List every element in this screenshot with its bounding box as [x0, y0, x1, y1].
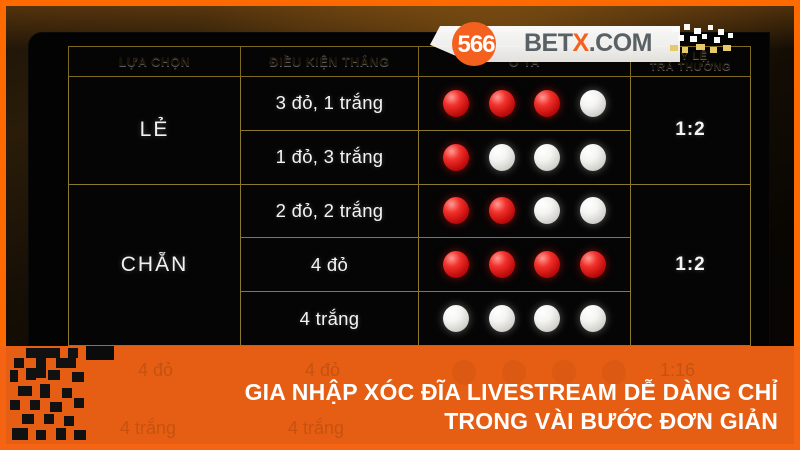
payout-cell-odd: 1:2 [631, 77, 751, 185]
ball-strip [419, 131, 630, 184]
condition-cell: 3 đỏ, 1 trắng [241, 77, 419, 131]
ball-red [443, 197, 469, 224]
ball-red [534, 251, 560, 278]
ball-strip [419, 77, 630, 130]
ball-strip [419, 238, 630, 291]
ball-red [489, 251, 515, 278]
condition-cell: 4 đỏ [241, 238, 419, 292]
result-cell [419, 184, 631, 238]
qr-code-icon [10, 348, 88, 444]
result-cell [419, 292, 631, 346]
header-choice: LỰA CHỌN [69, 47, 241, 77]
promo-banner: 4 đỏ 4 đỏ 4 trắng 4 trắng 1:16 GIA NHẬP … [0, 346, 800, 450]
group-label-even: CHẴN [69, 184, 241, 345]
ball-white [534, 197, 560, 224]
payout-cell-even: 1:2 [631, 184, 751, 345]
banner-line-2: TRONG VÀI BƯỚC ĐƠN GIẢN [218, 407, 778, 436]
ball-white [580, 90, 606, 117]
ghost-condition: 4 trắng [120, 418, 176, 439]
header-result: Ổ TA [419, 47, 631, 77]
ball-red [534, 90, 560, 117]
ball-white [534, 144, 560, 171]
ball-red [443, 144, 469, 171]
ball-red [580, 251, 606, 278]
ball-white [580, 144, 606, 171]
banner-headline: GIA NHẬP XÓC ĐĨA LIVESTREAM DỄ DÀNG CHỈ … [218, 378, 778, 436]
mosaic-blocks-icon [668, 24, 748, 58]
result-cell [419, 77, 631, 131]
condition-cell: 1 đỏ, 3 trắng [241, 130, 419, 184]
table-header-row: LỰA CHỌN ĐIỀU KIỆN THẮNG Ổ TA TỶ LỆ TRẢ … [69, 47, 751, 77]
table-row: CHẴN 2 đỏ, 2 trắng 1:2 [69, 184, 751, 238]
banner-line-1: GIA NHẬP XÓC ĐĨA LIVESTREAM DỄ DÀNG CHỈ [218, 378, 778, 407]
ball-white [443, 305, 469, 332]
condition-cell: 2 đỏ, 2 trắng [241, 184, 419, 238]
screenshot-root: LỰA CHỌN ĐIỀU KIỆN THẮNG Ổ TA TỶ LỆ TRẢ … [0, 0, 800, 450]
ball-white [534, 305, 560, 332]
ball-white [580, 197, 606, 224]
payout-table: LỰA CHỌN ĐIỀU KIỆN THẮNG Ổ TA TỶ LỆ TRẢ … [68, 46, 751, 346]
banner-notch [86, 346, 114, 360]
condition-cell: 4 trắng [241, 292, 419, 346]
ball-red [489, 197, 515, 224]
ball-red [443, 251, 469, 278]
ghost-condition: 4 đỏ [138, 360, 173, 381]
ball-strip [419, 292, 630, 345]
header-payout-line2: TRẢ THƯỞNG [631, 62, 750, 73]
ball-strip [419, 185, 630, 238]
ball-white [489, 305, 515, 332]
result-cell [419, 238, 631, 292]
ball-red [443, 90, 469, 117]
ball-red [489, 90, 515, 117]
result-cell [419, 130, 631, 184]
ball-white [580, 305, 606, 332]
ball-white [489, 144, 515, 171]
table-row: LẺ 3 đỏ, 1 trắng 1:2 [69, 77, 751, 131]
group-label-odd: LẺ [69, 77, 241, 185]
header-condition: ĐIỀU KIỆN THẮNG [241, 47, 419, 77]
